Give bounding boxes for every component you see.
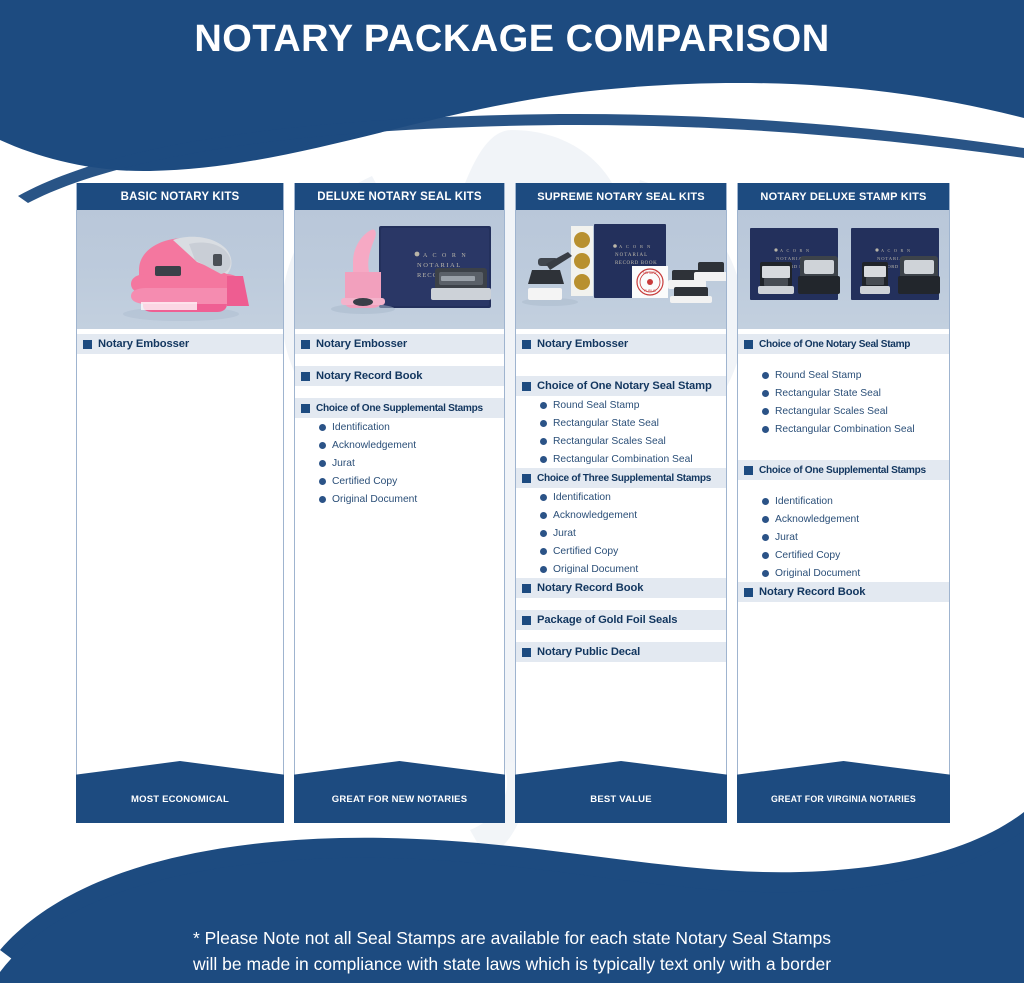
svg-text:NOTARIAL: NOTARIAL	[615, 253, 648, 258]
feature-spacer	[516, 354, 726, 376]
feature-subrow: Jurat	[738, 528, 949, 546]
product-image-basic	[77, 210, 283, 332]
dot-bullet-icon	[540, 512, 547, 519]
feature-label: Notary Embosser	[537, 338, 628, 350]
square-bullet-icon	[522, 616, 531, 625]
feature-label: Rectangular Combination Seal	[775, 424, 915, 435]
feature-spacer	[738, 354, 949, 366]
feature-label: Rectangular State Seal	[775, 388, 881, 399]
feature-row: Notary Public Decal	[516, 642, 726, 662]
feature-row: Package of Gold Foil Seals	[516, 610, 726, 630]
square-bullet-icon	[522, 648, 531, 657]
feature-label: Original Document	[332, 494, 417, 505]
feature-subrow: Jurat	[516, 524, 726, 542]
dot-bullet-icon	[540, 402, 547, 409]
dot-bullet-icon	[762, 570, 769, 577]
dot-bullet-icon	[540, 438, 547, 445]
column-header-basic: BASIC NOTARY KITS	[77, 183, 283, 210]
dot-bullet-icon	[762, 426, 769, 433]
feature-subrow: Original Document	[516, 560, 726, 578]
badge-container-basic: MOST ECONOMICAL	[77, 760, 283, 822]
package-column-basic[interactable]: BASIC NOTARY KITS	[76, 183, 284, 823]
feature-label: Notary Record Book	[316, 370, 422, 382]
square-bullet-icon	[744, 588, 753, 597]
dot-bullet-icon	[319, 496, 326, 503]
feature-label: Rectangular Scales Seal	[553, 436, 666, 447]
product-image-deluxe-stamp: A C O R N NOTARIAL RECORD BOOK A C O R N…	[738, 210, 949, 332]
feature-subrow: Certified Copy	[516, 542, 726, 560]
feature-subrow: Certified Copy	[738, 546, 949, 564]
dot-bullet-icon	[762, 372, 769, 379]
feature-row: Choice of One Supplemental Stamps	[738, 460, 949, 480]
feature-spacer	[516, 630, 726, 642]
product-image-supreme: A C O R N NOTARIAL RECORD BOOK NOTARY PU…	[516, 210, 726, 332]
dot-bullet-icon	[319, 478, 326, 485]
dot-bullet-icon	[540, 566, 547, 573]
feature-subrow: Rectangular Combination Seal	[738, 420, 949, 438]
package-column-deluxe-stamp[interactable]: NOTARY DELUXE STAMP KITS A C O R N NOTAR…	[737, 183, 950, 823]
feature-spacer	[738, 438, 949, 460]
svg-text:A C O R N: A C O R N	[619, 244, 652, 249]
feature-label: Round Seal Stamp	[775, 370, 861, 381]
square-bullet-icon	[744, 340, 753, 349]
dot-bullet-icon	[762, 498, 769, 505]
package-column-deluxe-seal[interactable]: DELUXE NOTARY SEAL KITS A C O R N NOTARI…	[294, 183, 505, 823]
svg-text:A C O R N: A C O R N	[780, 248, 810, 253]
feature-row: Choice of Three Supplemental Stamps	[516, 468, 726, 488]
feature-subrow: Jurat	[295, 454, 504, 472]
dot-bullet-icon	[540, 494, 547, 501]
feature-list-basic: Notary Embosser	[77, 332, 283, 760]
feature-list-deluxe-seal: Notary Embosser Notary Record Book Choic…	[295, 332, 504, 760]
feature-row: Choice of One Supplemental Stamps	[295, 398, 504, 418]
feature-label: Choice of One Supplemental Stamps	[759, 465, 926, 476]
feature-row: Notary Record Book	[516, 578, 726, 598]
feature-subrow: Acknowledgement	[738, 510, 949, 528]
pink-notary-embosser-icon	[77, 210, 283, 332]
feature-label: Acknowledgement	[332, 440, 416, 451]
dot-bullet-icon	[762, 516, 769, 523]
feature-row: Choice of One Notary Seal Stamp	[516, 376, 726, 396]
square-bullet-icon	[301, 404, 310, 413]
feature-label: Package of Gold Foil Seals	[537, 614, 677, 626]
svg-text:NOTARY: NOTARY	[643, 271, 658, 275]
footnote-line-1: * Please Note not all Seal Stamps are av…	[193, 928, 831, 948]
feature-label: Certified Copy	[775, 550, 840, 561]
svg-text:RECORD BOOK: RECORD BOOK	[615, 261, 657, 266]
feature-label: Round Seal Stamp	[553, 400, 639, 411]
feature-row: Notary Record Book	[738, 582, 949, 602]
column-header-deluxe-stamp: NOTARY DELUXE STAMP KITS	[738, 183, 949, 210]
dot-bullet-icon	[319, 424, 326, 431]
feature-subrow: Rectangular Combination Seal	[516, 450, 726, 468]
dot-bullet-icon	[762, 552, 769, 559]
feature-label: Notary Record Book	[759, 586, 865, 598]
feature-subrow: Identification	[295, 418, 504, 436]
feature-subrow: Acknowledgement	[516, 506, 726, 524]
feature-subrow: Rectangular State Seal	[738, 384, 949, 402]
feature-subrow: Rectangular Scales Seal	[516, 432, 726, 450]
badge-container-deluxe-seal: GREAT FOR NEW NOTARIES	[295, 760, 504, 822]
feature-label: Rectangular Combination Seal	[553, 454, 693, 465]
feature-label: Jurat	[332, 458, 355, 469]
feature-label: Original Document	[775, 568, 860, 579]
dot-bullet-icon	[319, 442, 326, 449]
dot-bullet-icon	[540, 548, 547, 555]
comparison-columns: BASIC NOTARY KITS	[76, 183, 950, 823]
page-title: NOTARY PACKAGE COMPARISON	[0, 18, 1024, 61]
dot-bullet-icon	[762, 390, 769, 397]
badge-basic: MOST ECONOMICAL	[76, 761, 284, 823]
feature-subrow: Acknowledgement	[295, 436, 504, 454]
dot-bullet-icon	[540, 420, 547, 427]
feature-label: Identification	[775, 496, 833, 507]
feature-label: Acknowledgement	[553, 510, 637, 521]
feature-label: Jurat	[553, 528, 576, 539]
feature-row: Choice of One Notary Seal Stamp	[738, 334, 949, 354]
feature-row: Notary Embosser	[295, 334, 504, 354]
feature-label: Choice of One Notary Seal Stamp	[759, 339, 910, 350]
square-bullet-icon	[301, 372, 310, 381]
feature-subrow: Original Document	[738, 564, 949, 582]
feature-label: Notary Record Book	[537, 582, 643, 594]
feature-subrow: Certified Copy	[295, 472, 504, 490]
square-bullet-icon	[522, 584, 531, 593]
deluxe-stamp-kits-icon: A C O R N NOTARIAL RECORD BOOK A C O R N…	[738, 210, 949, 332]
notary-package-comparison-infographic: NOTARY PACKAGE COMPARISON BASIC NOTARY K…	[0, 0, 1024, 983]
feature-subrow: Rectangular Scales Seal	[738, 402, 949, 420]
dot-bullet-icon	[319, 460, 326, 467]
square-bullet-icon	[522, 340, 531, 349]
badge-container-supreme: BEST VALUE	[516, 760, 726, 822]
feature-label: Notary Public Decal	[537, 646, 640, 658]
feature-label: Identification	[332, 422, 390, 433]
feature-label: Original Document	[553, 564, 638, 575]
badge-deluxe-stamp: GREAT FOR VIRGINIA NOTARIES	[737, 761, 950, 823]
feature-spacer	[295, 354, 504, 366]
square-bullet-icon	[522, 382, 531, 391]
feature-label: Rectangular Scales Seal	[775, 406, 888, 417]
feature-row: Notary Record Book	[295, 366, 504, 386]
embosser-record-book-stamp-icon: A C O R N NOTARIAL RECORD BOOK	[295, 210, 504, 332]
feature-label: Choice of One Supplemental Stamps	[316, 403, 483, 414]
feature-list-supreme: Notary Embosser Choice of One Notary Sea…	[516, 332, 726, 760]
footnote: * Please Note not all Seal Stamps are av…	[0, 926, 1024, 977]
column-header-supreme: SUPREME NOTARY SEAL KITS	[516, 183, 726, 210]
feature-spacer	[738, 480, 949, 492]
feature-row: Notary Embosser	[516, 334, 726, 354]
svg-text:NOTARIAL: NOTARIAL	[417, 262, 462, 269]
square-bullet-icon	[522, 474, 531, 483]
feature-label: Identification	[553, 492, 611, 503]
badge-supreme: BEST VALUE	[515, 761, 727, 823]
product-image-deluxe-seal: A C O R N NOTARIAL RECORD BOOK	[295, 210, 504, 332]
feature-subrow: Identification	[516, 488, 726, 506]
svg-text:A C O R N: A C O R N	[423, 253, 468, 259]
feature-subrow: Original Document	[295, 490, 504, 508]
feature-subrow: Round Seal Stamp	[516, 396, 726, 414]
footnote-line-2: will be made in compliance with state la…	[50, 952, 974, 977]
supreme-kit-icon: A C O R N NOTARIAL RECORD BOOK NOTARY PU…	[516, 210, 726, 332]
feature-list-deluxe-stamp: Choice of One Notary Seal Stamp Round Se…	[738, 332, 949, 760]
feature-subrow: Identification	[738, 492, 949, 510]
feature-spacer	[295, 386, 504, 398]
dot-bullet-icon	[762, 534, 769, 541]
square-bullet-icon	[83, 340, 92, 349]
feature-label: Choice of Three Supplemental Stamps	[537, 473, 711, 484]
feature-label: Acknowledgement	[775, 514, 859, 525]
square-bullet-icon	[744, 466, 753, 475]
svg-text:A C O R N: A C O R N	[881, 248, 911, 253]
feature-label: Choice of One Notary Seal Stamp	[537, 380, 712, 392]
feature-label: Notary Embosser	[316, 338, 407, 350]
feature-label: Certified Copy	[332, 476, 397, 487]
feature-label: Rectangular State Seal	[553, 418, 659, 429]
svg-text:PUBLIC: PUBLIC	[644, 289, 657, 293]
square-bullet-icon	[301, 340, 310, 349]
feature-subrow: Round Seal Stamp	[738, 366, 949, 384]
feature-label: Jurat	[775, 532, 798, 543]
column-header-deluxe-seal: DELUXE NOTARY SEAL KITS	[295, 183, 504, 210]
dot-bullet-icon	[540, 456, 547, 463]
dot-bullet-icon	[762, 408, 769, 415]
dot-bullet-icon	[540, 530, 547, 537]
badge-container-deluxe-stamp: GREAT FOR VIRGINIA NOTARIES	[738, 760, 949, 822]
feature-spacer	[516, 598, 726, 610]
package-column-supreme[interactable]: SUPREME NOTARY SEAL KITS A C O R N NOTAR…	[515, 183, 727, 823]
feature-subrow: Rectangular State Seal	[516, 414, 726, 432]
badge-deluxe-seal: GREAT FOR NEW NOTARIES	[294, 761, 505, 823]
feature-row: Notary Embosser	[77, 334, 283, 354]
feature-label: Notary Embosser	[98, 338, 189, 350]
feature-label: Certified Copy	[553, 546, 618, 557]
